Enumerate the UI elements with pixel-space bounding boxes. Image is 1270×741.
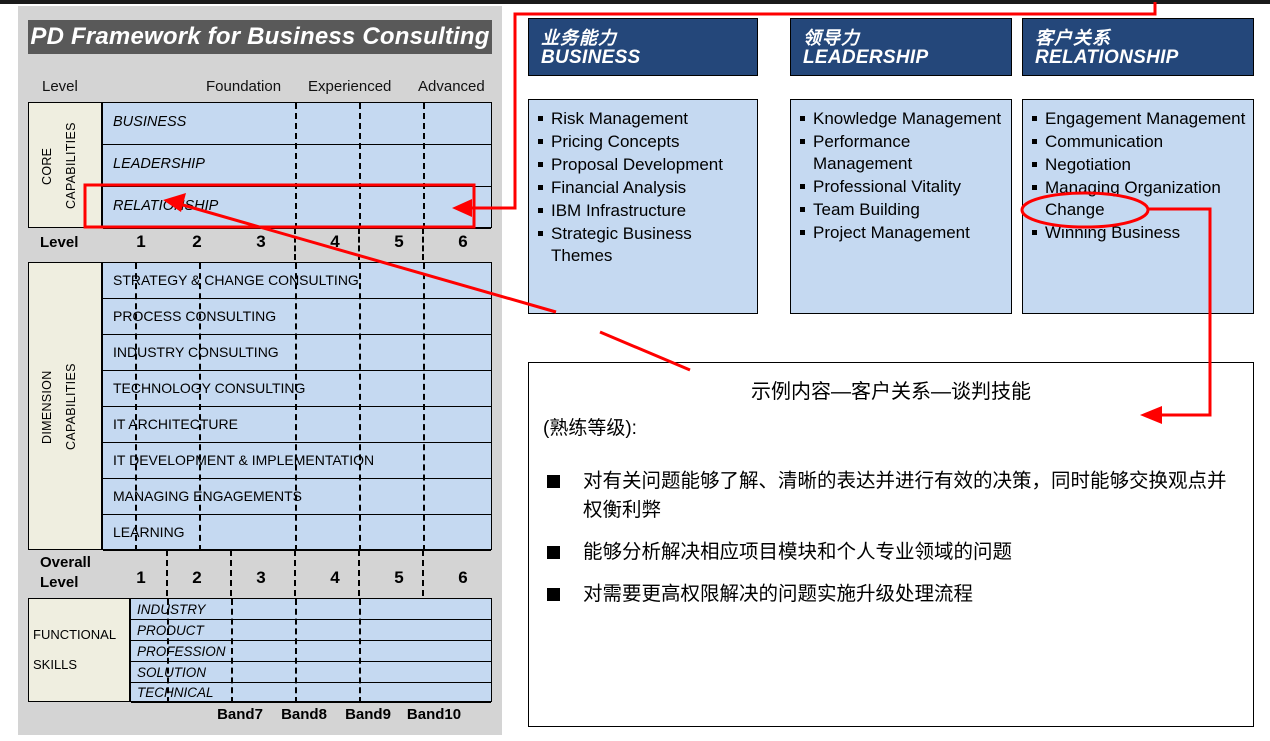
dimension-row[interactable]: LEARNING xyxy=(103,515,491,551)
level-value-2: 2 xyxy=(182,232,212,252)
page-title: PD Framework for Business Consulting xyxy=(28,20,492,54)
functional-row-label: SOLUTION xyxy=(137,665,206,680)
overall-level-value-1: 1 xyxy=(126,568,156,588)
dimension-row[interactable]: PROCESS CONSULTING xyxy=(103,299,491,335)
functional-skills-label-line1: FUNCTIONAL xyxy=(33,627,116,642)
list-item-negotiation[interactable]: Negotiation xyxy=(1031,154,1247,176)
core-capabilities-label-line1: CORE xyxy=(35,103,59,229)
overall-divider-2 xyxy=(294,550,296,596)
list-item[interactable]: Winning Business xyxy=(1031,222,1247,244)
level-divider-1 xyxy=(294,228,296,260)
core-row-relationship[interactable]: RELATIONSHIP xyxy=(103,187,491,229)
detail-panel-title: 示例内容—客户关系—谈判技能 xyxy=(529,375,1253,404)
band-divider-2 xyxy=(359,103,361,229)
list-item[interactable]: Financial Analysis xyxy=(537,177,751,199)
functional-skills-label-line2: SKILLS xyxy=(33,657,77,672)
overall-divider-1 xyxy=(230,550,232,596)
dimension-row-label: IT DEVELOPMENT & IMPLEMENTATION xyxy=(113,452,374,468)
detail-panel-subtitle: (熟练等级): xyxy=(543,413,637,440)
dimension-row-label: PROCESS CONSULTING xyxy=(113,308,276,324)
core-capabilities-label-cell: CORE CAPABILITIES xyxy=(28,102,102,228)
detail-list-item: 对有关问题能够了解、清晰的表达并进行有效的决策，同时能够交换观点并权衡利弊 xyxy=(543,467,1239,525)
column-header-leadership-en: LEADERSHIP xyxy=(803,47,928,69)
level-divider-3 xyxy=(422,228,424,260)
dimension-row-label: STRATEGY & CHANGE CONSULTING xyxy=(113,272,359,288)
dimension-divider-1 xyxy=(199,263,201,551)
overall-divider-4 xyxy=(422,550,424,596)
list-item[interactable]: Risk Management xyxy=(537,108,751,130)
dimension-row[interactable]: STRATEGY & CHANGE CONSULTING xyxy=(103,263,491,299)
column-header-relationship[interactable]: 客户关系 RELATIONSHIP xyxy=(1022,18,1254,76)
band-header-experienced: Experienced xyxy=(308,78,391,95)
detail-panel: 示例内容—客户关系—谈判技能 (熟练等级): 对有关问题能够了解、清晰的表达并进… xyxy=(528,362,1254,727)
overall-divider-3 xyxy=(358,550,360,596)
dimension-capabilities-label-line2: CAPABILITIES xyxy=(59,263,83,551)
functional-row-label: PRODUCT xyxy=(137,623,204,638)
functional-row-label: TECHNICAL xyxy=(137,685,214,700)
leadership-item-list: Knowledge Management Performance Managem… xyxy=(799,108,1005,244)
dimension-divider-0 xyxy=(135,263,137,551)
detail-panel-list: 对有关问题能够了解、清晰的表达并进行有效的决策，同时能够交换观点并权衡利弊 能够… xyxy=(543,467,1239,622)
dimension-capabilities-grid: STRATEGY & CHANGE CONSULTING PROCESS CON… xyxy=(102,262,492,550)
dimension-divider-3 xyxy=(359,263,361,551)
band-header-foundation: Foundation xyxy=(206,78,281,95)
functional-divider-1 xyxy=(231,599,233,703)
core-capabilities-grid: BUSINESS LEADERSHIP RELATIONSHIP xyxy=(102,102,492,228)
level-header-label: Level xyxy=(42,78,78,95)
dimension-row[interactable]: MANAGING ENGAGEMENTS xyxy=(103,479,491,515)
dimension-row[interactable]: TECHNOLOGY CONSULTING xyxy=(103,371,491,407)
overall-level-value-4: 4 xyxy=(320,568,350,588)
column-header-business-en: BUSINESS xyxy=(541,47,641,69)
functional-divider-0 xyxy=(167,599,169,703)
core-capabilities-label-line2: CAPABILITIES xyxy=(59,103,83,229)
overall-level-value-3: 3 xyxy=(246,568,276,588)
functional-skills-grid: INDUSTRY PRODUCT PROFESSION SOLUTION TEC… xyxy=(130,598,492,702)
functional-row[interactable]: SOLUTION xyxy=(131,662,491,683)
dimension-row[interactable]: IT ARCHITECTURE xyxy=(103,407,491,443)
band-footer-8: Band8 xyxy=(272,706,336,723)
list-item[interactable]: Project Management xyxy=(799,222,1005,244)
list-item[interactable]: Proposal Development xyxy=(537,154,751,176)
detail-list-item: 能够分析解决相应项目模块和个人专业领域的问题 xyxy=(543,538,1239,567)
top-border xyxy=(0,0,1270,4)
list-item[interactable]: Team Building xyxy=(799,199,1005,221)
dimension-row[interactable]: IT DEVELOPMENT & IMPLEMENTATION xyxy=(103,443,491,479)
dimension-divider-4 xyxy=(423,263,425,551)
column-header-business[interactable]: 业务能力 BUSINESS xyxy=(528,18,758,76)
functional-skills-label-cell: FUNCTIONAL SKILLS xyxy=(28,598,130,702)
level-value-6: 6 xyxy=(448,232,478,252)
band-divider-3 xyxy=(423,103,425,229)
column-body-business: Risk Management Pricing Concepts Proposa… xyxy=(528,99,758,314)
overall-level-label-line2: Level xyxy=(40,574,78,591)
pd-framework-panel: PD Framework for Business Consulting Lev… xyxy=(18,6,502,735)
list-item[interactable]: Pricing Concepts xyxy=(537,131,751,153)
core-row-leadership[interactable]: LEADERSHIP xyxy=(103,145,491,187)
band-footer-9: Band9 xyxy=(336,706,400,723)
column-header-relationship-en: RELATIONSHIP xyxy=(1035,47,1179,69)
dimension-row-label: TECHNOLOGY CONSULTING xyxy=(113,380,305,396)
overall-level-value-2: 2 xyxy=(182,568,212,588)
functional-divider-2 xyxy=(295,599,297,703)
functional-row[interactable]: INDUSTRY xyxy=(131,599,491,620)
level-scale-label: Level xyxy=(40,234,78,251)
dimension-row-label: INDUSTRY CONSULTING xyxy=(113,344,279,360)
level-value-1: 1 xyxy=(126,232,156,252)
list-item[interactable]: IBM Infrastructure xyxy=(537,200,751,222)
band-header-advanced: Advanced xyxy=(418,78,485,95)
detail-list-item: 对需要更高权限解决的问题实施升级处理流程 xyxy=(543,580,1239,609)
band-footer-10: Band10 xyxy=(402,706,466,723)
relationship-item-list: Engagement Management Communication Nego… xyxy=(1031,108,1247,244)
dimension-divider-2 xyxy=(295,263,297,551)
dimension-row-label: LEARNING xyxy=(113,524,185,540)
overall-level-label-line1: Overall xyxy=(40,554,91,571)
list-item[interactable]: Managing Organization Change xyxy=(1031,177,1247,221)
column-header-leadership[interactable]: 领导力 LEADERSHIP xyxy=(790,18,1012,76)
core-row-relationship-label: RELATIONSHIP xyxy=(113,198,218,214)
functional-row[interactable]: PROFESSION xyxy=(131,641,491,662)
list-item[interactable]: Strategic Business Themes xyxy=(537,223,751,267)
column-body-relationship: Engagement Management Communication Nego… xyxy=(1022,99,1254,314)
business-item-list: Risk Management Pricing Concepts Proposa… xyxy=(537,108,751,267)
core-row-business[interactable]: BUSINESS xyxy=(103,103,491,145)
list-item[interactable]: Engagement Management xyxy=(1031,108,1247,130)
functional-row-label: PROFESSION xyxy=(137,644,226,659)
dimension-row-label: MANAGING ENGAGEMENTS xyxy=(113,488,302,504)
band-footer-7: Band7 xyxy=(208,706,272,723)
list-item[interactable]: Knowledge Management xyxy=(799,108,1005,130)
level-value-5: 5 xyxy=(384,232,414,252)
core-row-leadership-label: LEADERSHIP xyxy=(113,156,205,172)
list-item[interactable]: Performance Management xyxy=(799,131,1005,175)
dimension-row[interactable]: INDUSTRY CONSULTING xyxy=(103,335,491,371)
column-body-leadership: Knowledge Management Performance Managem… xyxy=(790,99,1012,314)
dimension-row-label: IT ARCHITECTURE xyxy=(113,416,238,432)
dimension-capabilities-label-line1: DIMENSION xyxy=(35,263,59,551)
level-divider-2 xyxy=(358,228,360,260)
functional-row-label: INDUSTRY xyxy=(137,602,206,617)
functional-row[interactable]: PRODUCT xyxy=(131,620,491,641)
band-divider-1 xyxy=(295,103,297,229)
list-item[interactable]: Professional Vitality xyxy=(799,176,1005,198)
overall-divider-0 xyxy=(166,550,168,596)
list-item[interactable]: Communication xyxy=(1031,131,1247,153)
level-value-3: 3 xyxy=(246,232,276,252)
core-row-business-label: BUSINESS xyxy=(113,114,186,130)
level-value-4: 4 xyxy=(320,232,350,252)
dimension-capabilities-label-cell: DIMENSION CAPABILITIES xyxy=(28,262,102,550)
overall-level-value-6: 6 xyxy=(448,568,478,588)
functional-row[interactable]: TECHNICAL xyxy=(131,683,491,703)
overall-level-value-5: 5 xyxy=(384,568,414,588)
functional-divider-3 xyxy=(359,599,361,703)
